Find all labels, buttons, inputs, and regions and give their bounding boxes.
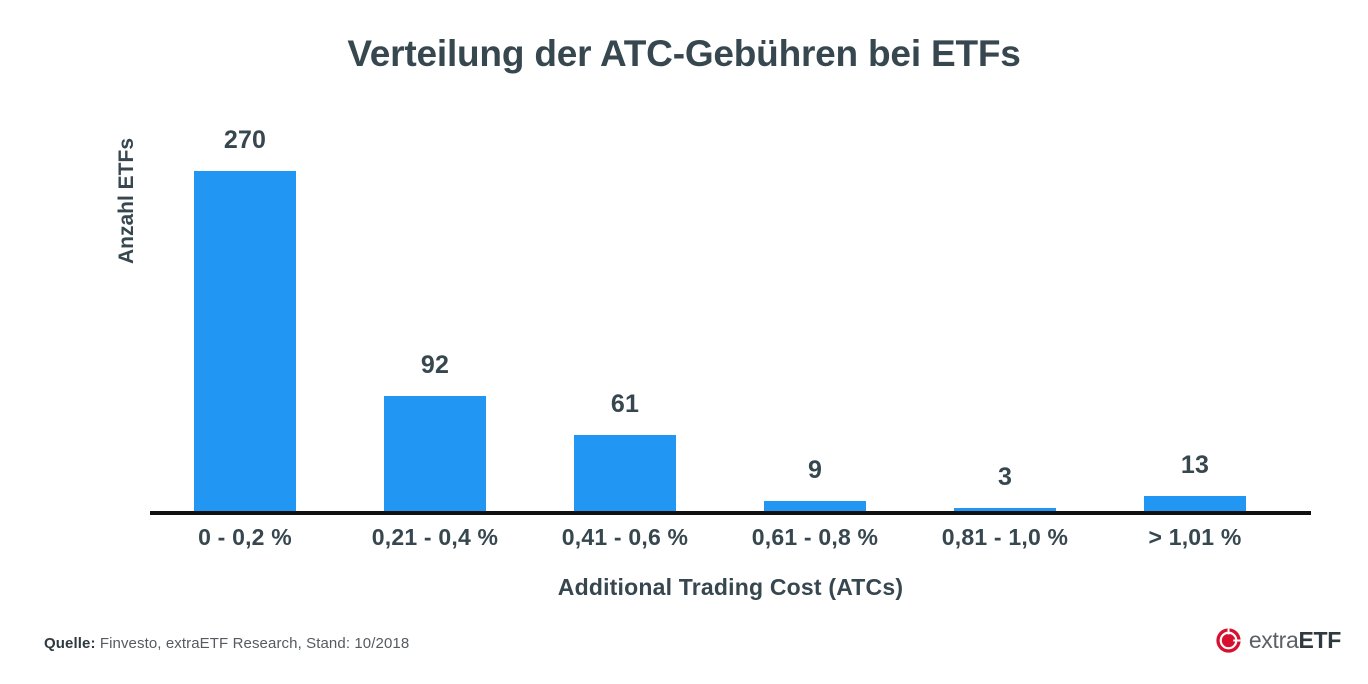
bar-rect[interactable] <box>194 171 296 512</box>
source-note: Quelle: Finvesto, extraETF Research, Sta… <box>44 635 409 652</box>
y-axis-label: Anzahl ETFs <box>115 224 139 264</box>
bar-value-label: 270 <box>150 126 340 155</box>
source-label: Quelle: <box>44 635 96 652</box>
brand-wordmark: extraETF <box>1249 629 1341 652</box>
bar-rect[interactable] <box>1144 496 1246 512</box>
x-tick-label: 0,21 - 0,4 % <box>340 524 530 551</box>
bar-group-0[interactable]: 270 <box>150 120 340 512</box>
bar-group-1[interactable]: 92 <box>340 120 530 512</box>
bar-group-2[interactable]: 61 <box>530 120 720 512</box>
brand-name-etf: ETF <box>1298 627 1341 653</box>
bar-rect[interactable] <box>574 435 676 512</box>
chart-title: Verteilung der ATC-Gebühren bei ETFs <box>0 34 1368 75</box>
bar-value-label: 92 <box>340 351 530 380</box>
brand-logo[interactable]: extraETF <box>1215 627 1341 654</box>
bar-rect[interactable] <box>384 396 486 512</box>
chart-page: Verteilung der ATC-Gebühren bei ETFs Anz… <box>0 0 1368 684</box>
extraetf-target-icon <box>1215 627 1242 654</box>
bar-value-label: 3 <box>910 463 1100 492</box>
bar-group-4[interactable]: 3 <box>910 120 1100 512</box>
x-axis-tick-labels: 0 - 0,2 % 0,21 - 0,4 % 0,41 - 0,6 % 0,61… <box>150 524 1311 551</box>
bar-group-5[interactable]: 13 <box>1100 120 1290 512</box>
bar-value-label: 13 <box>1100 451 1290 480</box>
x-tick-label: 0,81 - 1,0 % <box>910 524 1100 551</box>
bar-group-3[interactable]: 9 <box>720 120 910 512</box>
bar-value-label: 61 <box>530 390 720 419</box>
brand-name-extra: extra <box>1249 627 1299 653</box>
x-axis-title: Additional Trading Cost (ATCs) <box>150 574 1311 601</box>
source-text: Finvesto, extraETF Research, Stand: 10/2… <box>96 635 410 652</box>
x-tick-label: > 1,01 % <box>1100 524 1290 551</box>
x-tick-label: 0,41 - 0,6 % <box>530 524 720 551</box>
bar-series: 270 92 61 9 3 13 <box>150 120 1311 512</box>
x-tick-label: 0 - 0,2 % <box>150 524 340 551</box>
bar-value-label: 9 <box>720 456 910 485</box>
x-axis-line <box>150 511 1311 515</box>
x-tick-label: 0,61 - 0,8 % <box>720 524 910 551</box>
